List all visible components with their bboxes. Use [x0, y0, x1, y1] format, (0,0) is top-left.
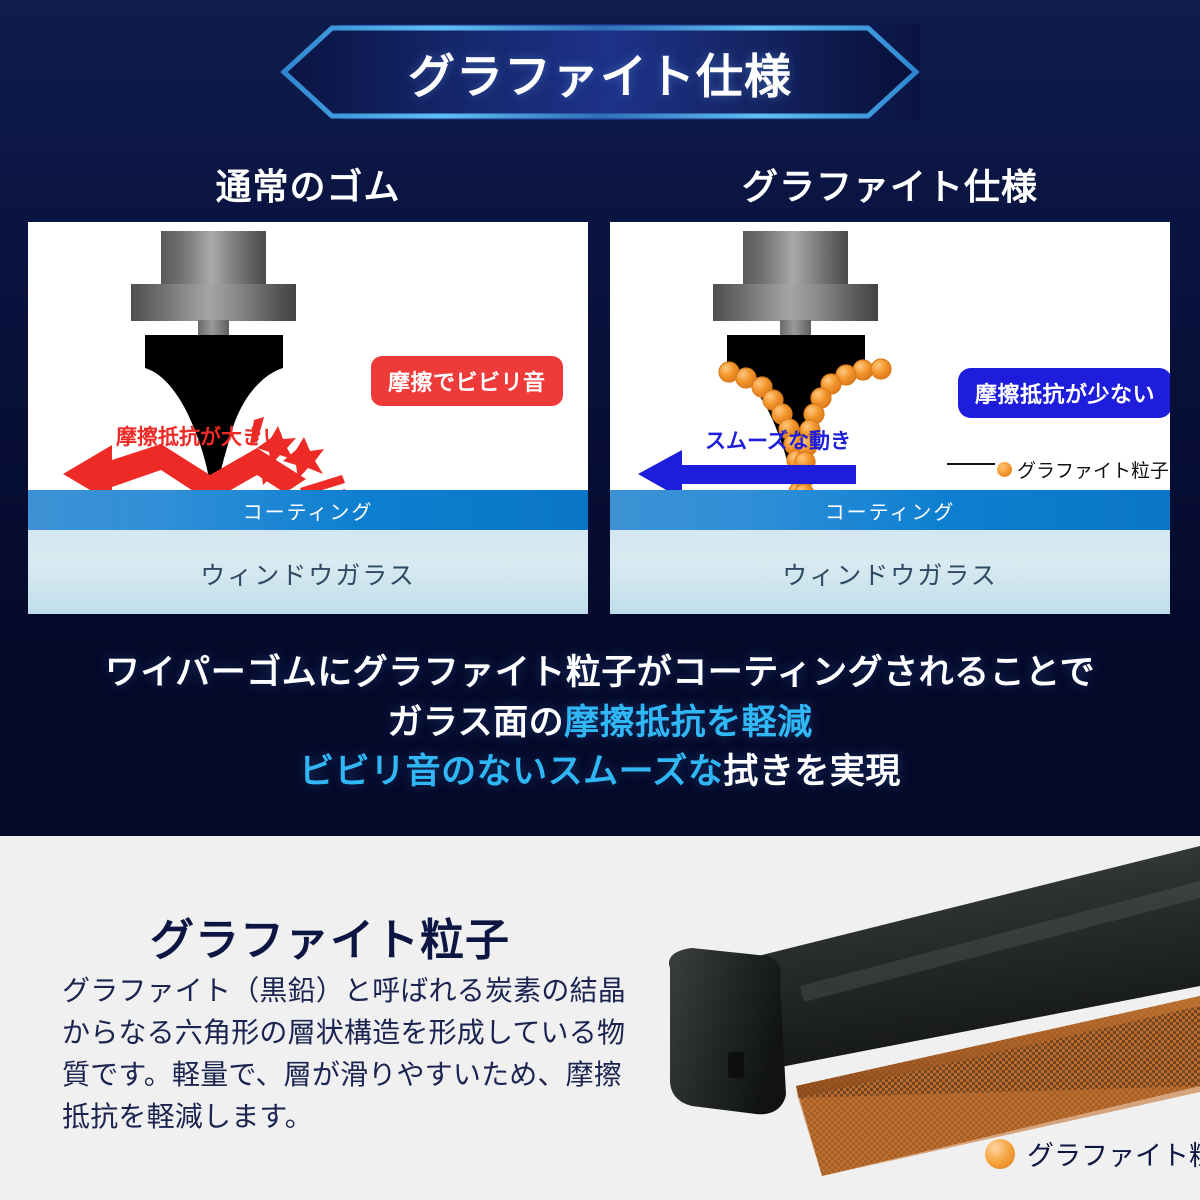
description-line-2-highlight: 摩擦抵抗を軽減: [564, 703, 813, 742]
description-line-2: ガラス面の摩擦抵抗を軽減: [0, 698, 1200, 748]
bottom-section: グラファイト粒子 グラファイト（黒鉛）と呼ばれる炭素の結晶からなる六角形の層状構…: [0, 836, 1200, 1200]
description-line-3-post: 拭きを実現: [723, 752, 901, 791]
glass-label-left: ウィンドウガラス: [200, 556, 416, 592]
low-friction-badge: 摩擦抵抗が少ない: [958, 368, 1170, 418]
description-line-2-pre: ガラス面の: [387, 703, 564, 742]
banner-title: グラファイト仕様: [280, 24, 920, 120]
graphite-legend: グラファイト粒子: [985, 1134, 1200, 1173]
graphite-particle-callout-label: グラファイト粒子: [1017, 456, 1169, 483]
infographic-page: グラファイト仕様 通常のゴム グラファイト仕様: [0, 0, 1200, 1200]
glass-label-right: ウィンドウガラス: [782, 556, 998, 592]
header-banner: グラファイト仕様: [280, 24, 920, 120]
coating-label-left: コーティング: [243, 496, 374, 525]
description-line-3-highlight-2: スムーズな: [548, 752, 724, 791]
glass-layer-right: ウィンドウガラス: [610, 530, 1170, 614]
coating-layer-left: コーティング: [28, 490, 588, 530]
glass-layer-left: ウィンドウガラス: [28, 530, 588, 614]
description-block: ワイパーゴムにグラファイト粒子がコーティングされることで ガラス面の摩擦抵抗を軽…: [0, 648, 1200, 797]
description-line-3: ビビリ音のないスムーズな拭きを実現: [0, 747, 1200, 797]
coating-label-right: コーティング: [825, 496, 956, 525]
bottom-body-text: グラファイト（黒鉛）と呼ばれる炭素の結晶からなる六角形の層状構造を形成している物…: [62, 970, 640, 1138]
description-line-1: ワイパーゴムにグラファイト粒子がコーティングされることで: [0, 648, 1200, 698]
graphite-particle-dot-icon: [985, 1139, 1015, 1169]
graphite-diagram: スムーズな動き 摩擦抵抗が少ない グラファイト粒子 コーティング ウィンドウガラ…: [610, 222, 1170, 614]
normal-rubber-diagram: 摩擦抵抗が大きい 摩擦でビビリ音 コーティング ウィンドウガラス: [28, 222, 588, 614]
smooth-motion-caption: スムーズな動き: [705, 425, 851, 455]
high-friction-caption: 摩擦抵抗が大きい: [116, 421, 284, 451]
particle-leader-line: [947, 463, 995, 465]
chatter-noise-badge: 摩擦でビビリ音: [371, 356, 563, 406]
description-line-3-highlight-1: ビビリ音のない: [299, 752, 548, 791]
graphite-particle-dot-icon: [997, 462, 1012, 477]
coating-layer-right: コーティング: [610, 490, 1170, 530]
bottom-heading: グラファイト粒子: [150, 904, 510, 968]
graphite-legend-label: グラファイト粒子: [1027, 1134, 1200, 1173]
left-panel-title: 通常のゴム: [28, 158, 588, 210]
right-panel-title: グラファイト仕様: [610, 158, 1170, 210]
graphite-particle-callout: グラファイト粒子: [997, 456, 1169, 483]
